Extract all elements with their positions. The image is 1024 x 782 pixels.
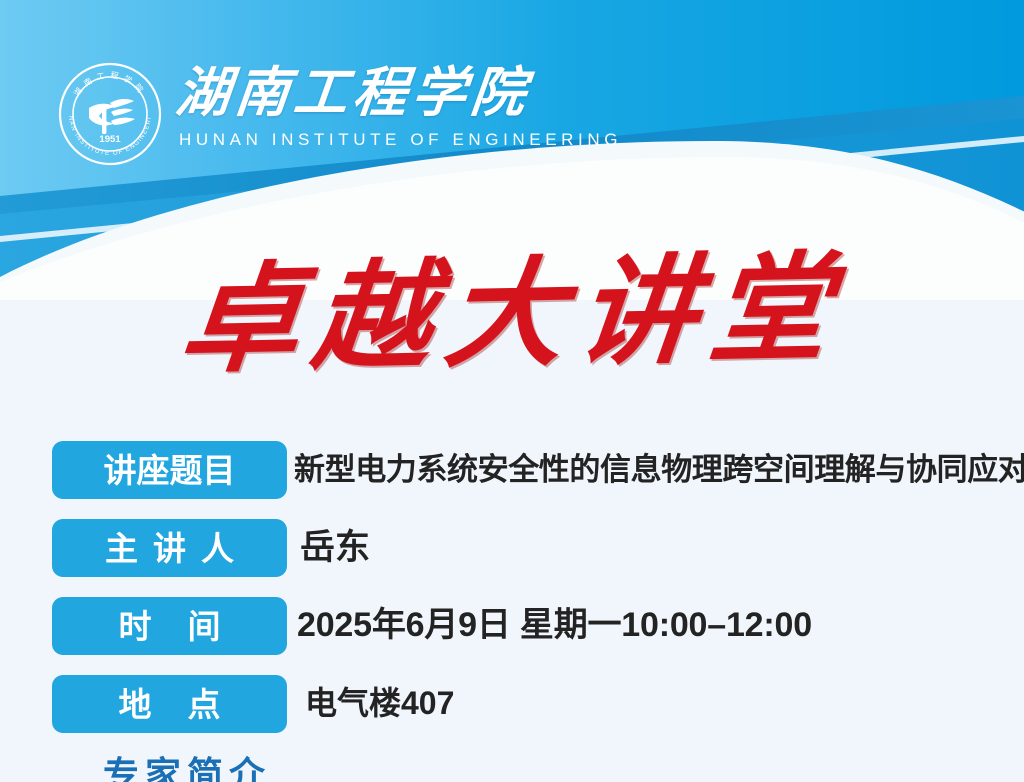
label-topic: 讲座题目 <box>104 454 236 487</box>
label-speaker: 主讲人 <box>90 532 249 565</box>
lecture-info-table: 讲座题目 新型电力系统安全性的信息物理跨空间理解与协同应对机制 主讲人 岳东 时… <box>52 441 1012 733</box>
svg-text:1951: 1951 <box>99 134 121 145</box>
university-seal-icon: 湖南工程学院 HUNAN INSTITUTE OF ENGINEERING 19… <box>58 62 162 166</box>
value-place: 电气楼407 <box>305 687 454 721</box>
university-name-cn: 湖南工程学院 <box>173 66 625 121</box>
university-logo-block: 湖南工程学院 HUNAN INSTITUTE OF ENGINEERING 19… <box>58 62 622 166</box>
info-row-time: 时间 2025年6月9日 星期一10:00–12:00 <box>52 597 1012 655</box>
lecture-poster: 湖南工程学院 HUNAN INSTITUTE OF ENGINEERING 19… <box>0 0 1024 782</box>
label-time: 时间 <box>83 610 257 643</box>
info-row-speaker: 主讲人 岳东 <box>52 519 1012 577</box>
section-heading-expert-bio: 专家简介 <box>103 757 271 782</box>
label-pill-topic: 讲座题目 <box>52 441 287 499</box>
university-wordmark: 湖南工程学院 HUNAN INSTITUTE OF ENGINEERING <box>176 62 622 150</box>
svg-text:湖南工程学院: 湖南工程学院 <box>72 71 148 99</box>
label-pill-place: 地点 <box>52 675 287 733</box>
label-pill-speaker: 主讲人 <box>52 519 287 577</box>
info-row-place: 地点 电气楼407 <box>52 675 1012 733</box>
info-row-topic: 讲座题目 新型电力系统安全性的信息物理跨空间理解与协同应对机制 <box>52 441 1012 499</box>
university-name-en: HUNAN INSTITUTE OF ENGINEERING <box>179 130 622 150</box>
value-time: 2025年6月9日 星期一10:00–12:00 <box>297 608 812 644</box>
value-topic: 新型电力系统安全性的信息物理跨空间理解与协同应对机制 <box>294 454 1024 487</box>
label-pill-time: 时间 <box>52 597 287 655</box>
value-speaker: 岳东 <box>300 530 370 567</box>
label-place: 地点 <box>83 688 257 721</box>
